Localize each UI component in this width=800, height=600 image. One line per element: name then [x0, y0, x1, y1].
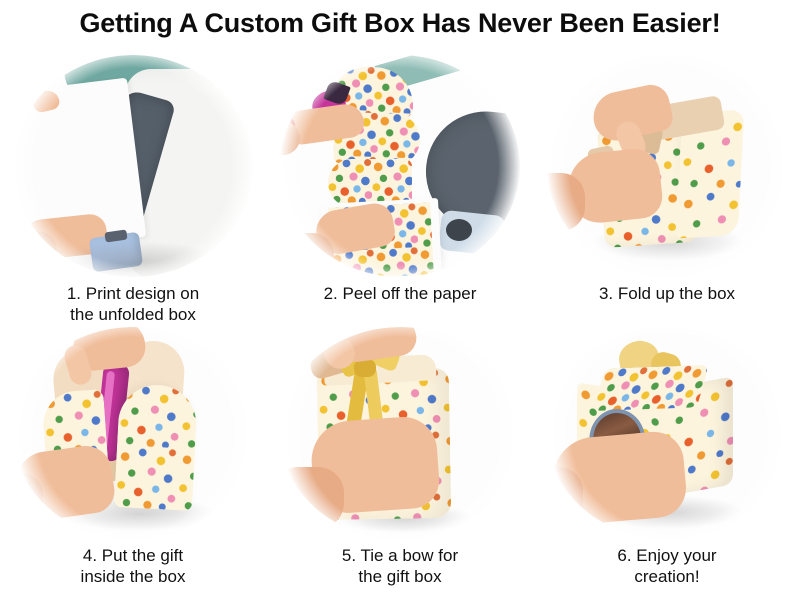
box-petal-front-right	[114, 383, 198, 511]
step-image-5-vignette	[280, 327, 520, 539]
step-caption-4-line2: inside the box	[0, 566, 266, 587]
step-card-1: 1. Print design on the unfolded box	[0, 55, 266, 325]
instruction-infographic: Getting A Custom Gift Box Has Never Been…	[0, 0, 800, 600]
step-image-2	[280, 55, 520, 277]
step-image-4-vignette	[13, 327, 253, 539]
step-image-4	[13, 327, 253, 539]
forearm-insert	[13, 473, 43, 529]
step-card-3: 3. Fold up the box	[534, 55, 800, 304]
fold-scene	[547, 55, 787, 277]
step-image-6	[547, 327, 787, 539]
forearm-fold	[547, 173, 585, 231]
step-image-2-vignette	[280, 55, 520, 277]
finished-box-scene	[547, 327, 787, 539]
step-image-1-vignette	[13, 55, 253, 277]
press-knob	[446, 219, 472, 241]
step-image-6-vignette	[547, 327, 787, 539]
step-image-3-vignette	[547, 55, 787, 277]
step-caption-4-line1: 4. Put the gift	[0, 545, 266, 566]
step-caption-2-line1: 2. Peel off the paper	[267, 283, 533, 304]
step-caption-1-line1: 1. Print design on	[0, 283, 266, 304]
step-caption-1: 1. Print design on the unfolded box	[0, 283, 266, 325]
insert-gift-scene	[13, 327, 253, 539]
step-card-4: 4. Put the gift inside the box	[0, 327, 266, 587]
step-caption-5-line1: 5. Tie a bow for	[267, 545, 533, 566]
step-caption-6-line1: 6. Enjoy your	[534, 545, 800, 566]
forearm-tie	[280, 467, 344, 529]
step-caption-3: 3. Fold up the box	[534, 283, 800, 304]
step-image-3	[547, 55, 787, 277]
step-image-1	[13, 55, 253, 277]
forearm-lower	[280, 233, 334, 277]
step-caption-5: 5. Tie a bow for the gift box	[267, 545, 533, 587]
peel-scene	[280, 55, 520, 277]
steps-grid: 1. Print design on the unfolded box	[0, 55, 800, 600]
page-title: Getting A Custom Gift Box Has Never Been…	[0, 8, 800, 39]
step-image-5	[280, 327, 520, 539]
step-caption-1-line2: the unfolded box	[0, 304, 266, 325]
step-card-5: 5. Tie a bow for the gift box	[267, 327, 533, 587]
step-caption-3-line1: 3. Fold up the box	[534, 283, 800, 304]
step-caption-6: 6. Enjoy your creation!	[534, 545, 800, 587]
forearm	[13, 231, 57, 275]
forearm-present	[547, 467, 583, 529]
step-caption-4: 4. Put the gift inside the box	[0, 545, 266, 587]
step-card-6: 6. Enjoy your creation!	[534, 327, 800, 587]
tie-bow-scene	[280, 327, 520, 539]
step-caption-6-line2: creation!	[534, 566, 800, 587]
step-card-2: 2. Peel off the paper	[267, 55, 533, 304]
scene-shadow	[53, 241, 223, 277]
box-face-top	[593, 365, 709, 411]
step-caption-2: 2. Peel off the paper	[267, 283, 533, 304]
step-caption-5-line2: the gift box	[267, 566, 533, 587]
printer-scene	[13, 55, 253, 277]
